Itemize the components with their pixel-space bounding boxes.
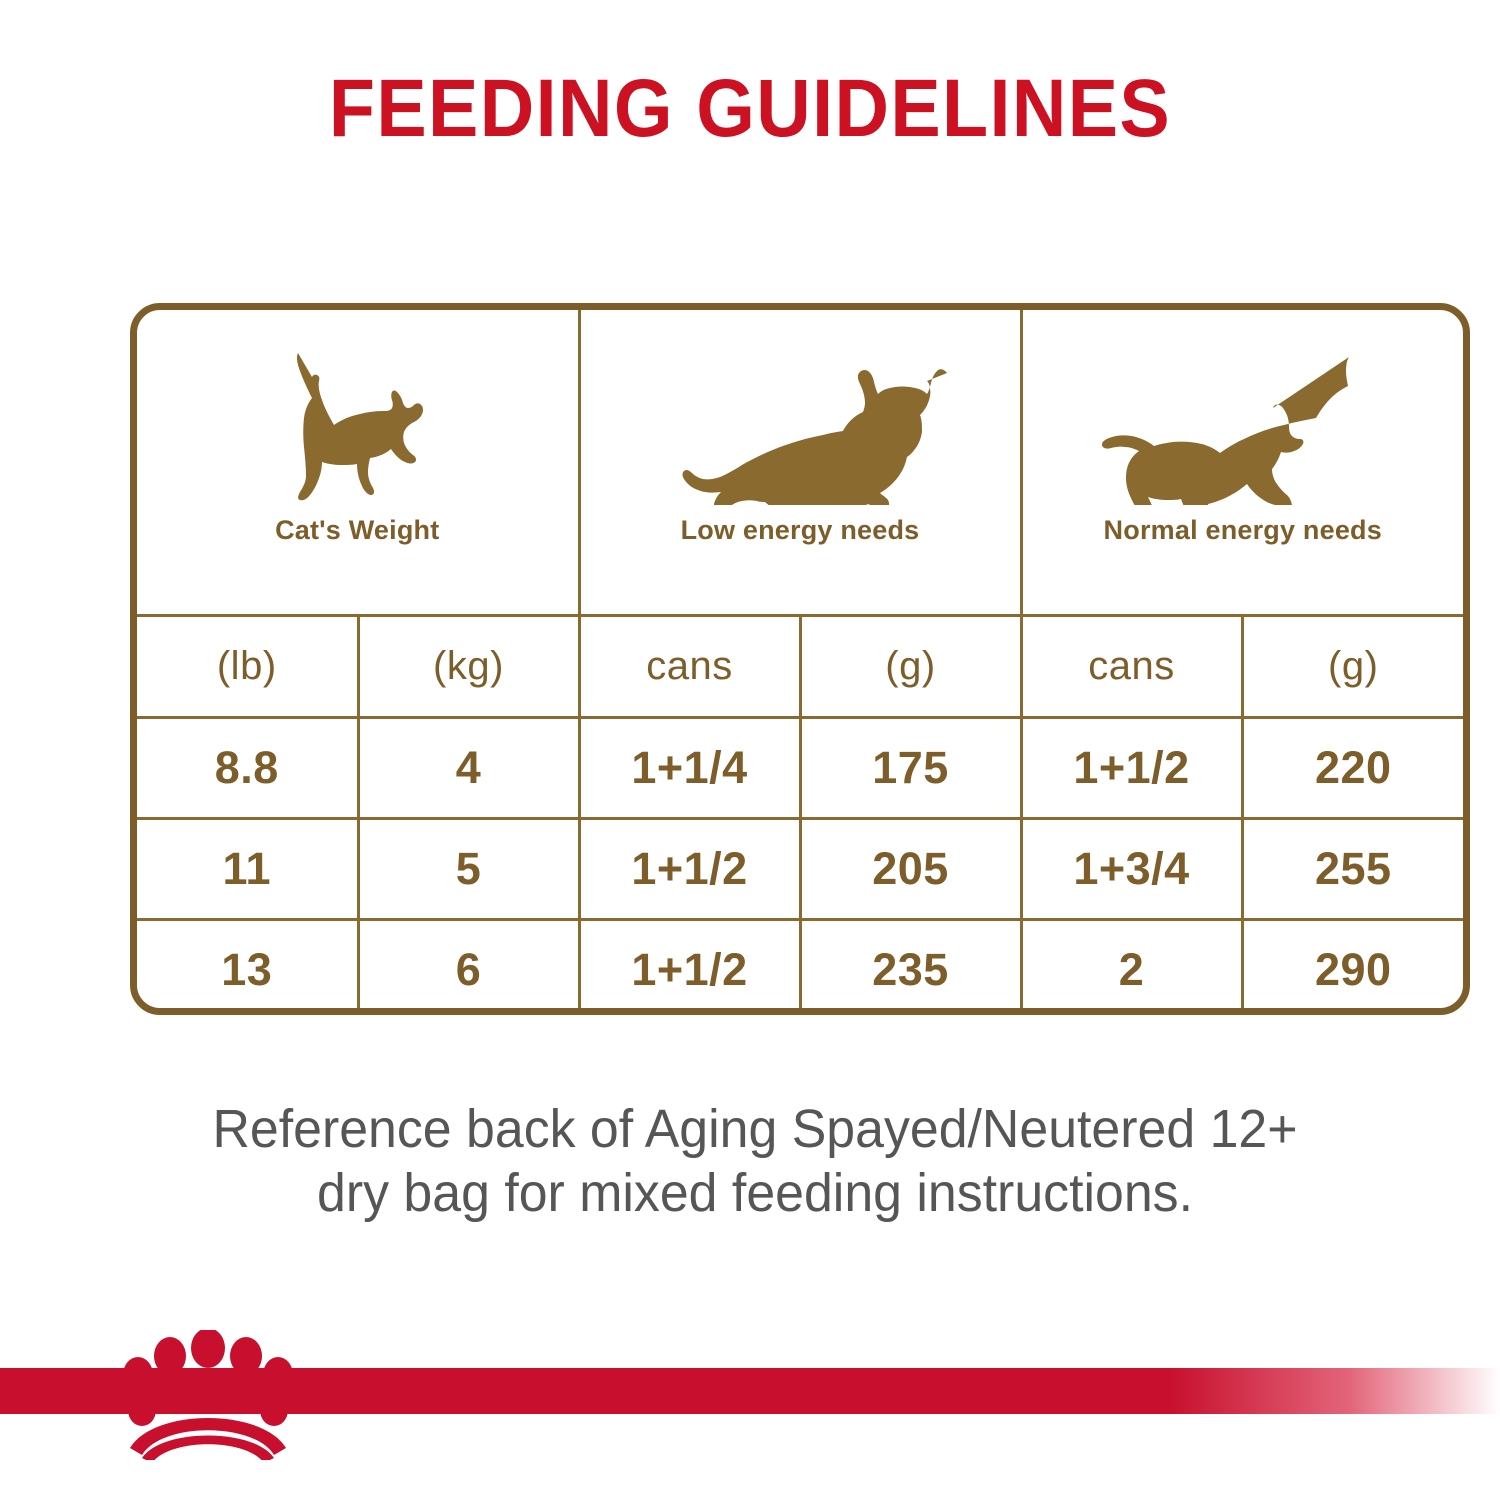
cell-weight-lb: 11: [137, 818, 358, 919]
table-unit-header-row: (lb) (kg) cans (g) cans (g): [137, 615, 1463, 717]
unit-header-kg: (kg): [358, 615, 579, 717]
cell-normal-cans: 1+1/2: [1021, 717, 1242, 818]
cell-weight-kg: 4: [358, 717, 579, 818]
unit-header-low-cans: cans: [579, 615, 800, 717]
cell-value: 2: [1119, 944, 1145, 995]
unit-label: (lb): [217, 644, 277, 688]
unit-header-normal-grams: (g): [1242, 615, 1463, 717]
cell-value: 175: [872, 742, 949, 793]
cell-normal-grams: 220: [1242, 717, 1463, 818]
unit-header-low-grams: (g): [800, 615, 1021, 717]
cell-value: 5: [456, 843, 482, 894]
cell-weight-kg: 5: [358, 818, 579, 919]
walking-cat-icon: [1093, 353, 1393, 505]
standing-cat-icon: [265, 337, 450, 505]
group-header-label: Normal energy needs: [1104, 515, 1382, 546]
cell-low-grams: 235: [800, 919, 1021, 1015]
note-line-2: dry bag for mixed feeding instructions.: [136, 1162, 1374, 1226]
cell-value: 6: [456, 944, 482, 995]
cell-low-cans: 1+1/2: [579, 919, 800, 1015]
cell-value: 13: [221, 944, 272, 995]
cell-value: 4: [456, 742, 482, 793]
unit-label: (g): [1328, 644, 1378, 688]
cell-low-grams: 175: [800, 717, 1021, 818]
group-header-low-energy: Low energy needs: [579, 310, 1021, 615]
cell-value: 235: [872, 944, 949, 995]
unit-label: (g): [885, 644, 935, 688]
note-line-1: Reference back of Aging Spayed/Neutered …: [136, 1098, 1374, 1162]
cell-value: 290: [1315, 944, 1392, 995]
group-header-normal-energy: Normal energy needs: [1021, 310, 1463, 615]
cell-value: 11: [222, 843, 271, 894]
cell-normal-cans: 2: [1021, 919, 1242, 1015]
lying-cat-icon: [645, 355, 955, 505]
table-group-header-row: Cat's Weight Low energy needs: [137, 310, 1463, 615]
cell-value: 1+1/4: [631, 742, 747, 793]
cell-normal-grams: 255: [1242, 818, 1463, 919]
cell-normal-cans: 1+3/4: [1021, 818, 1242, 919]
unit-label: cans: [646, 644, 733, 688]
cell-weight-kg: 6: [358, 919, 579, 1015]
feeding-table: Cat's Weight Low energy needs: [137, 310, 1463, 1015]
mixed-feeding-note: Reference back of Aging Spayed/Neutered …: [136, 1098, 1374, 1225]
group-header-label: Low energy needs: [681, 515, 920, 546]
table-row: 13 6 1+1/2 235 2 290: [137, 919, 1463, 1015]
cell-low-cans: 1+1/4: [579, 717, 800, 818]
cell-weight-lb: 13: [137, 919, 358, 1015]
cell-value: 1+1/2: [631, 843, 747, 894]
feeding-guidelines-page: FEEDING GUIDELINES Cat's Weight: [0, 0, 1500, 1500]
cell-value: 1+3/4: [1073, 843, 1189, 894]
cell-weight-lb: 8.8: [137, 717, 358, 818]
group-header-label: Cat's Weight: [275, 515, 439, 546]
cell-value: 255: [1315, 843, 1392, 894]
feeding-table-container: Cat's Weight Low energy needs: [130, 303, 1470, 1015]
cell-value: 1+1/2: [1073, 742, 1189, 793]
table-row: 8.8 4 1+1/4 175 1+1/2 220: [137, 717, 1463, 818]
cell-value: 205: [872, 843, 949, 894]
cell-value: 1+1/2: [631, 944, 747, 995]
cell-value: 8.8: [215, 742, 279, 793]
cell-value: 220: [1315, 742, 1392, 793]
cell-normal-grams: 290: [1242, 919, 1463, 1015]
table-row: 11 5 1+1/2 205 1+3/4 255: [137, 818, 1463, 919]
unit-label: (kg): [433, 644, 504, 688]
unit-header-normal-cans: cans: [1021, 615, 1242, 717]
group-header-cat-weight: Cat's Weight: [137, 310, 579, 615]
cell-low-cans: 1+1/2: [579, 818, 800, 919]
royal-canin-crown-logo: [108, 1330, 308, 1460]
cell-low-grams: 205: [800, 818, 1021, 919]
unit-header-lb: (lb): [137, 615, 358, 717]
page-title: FEEDING GUIDELINES: [60, 68, 1440, 150]
unit-label: cans: [1088, 644, 1175, 688]
